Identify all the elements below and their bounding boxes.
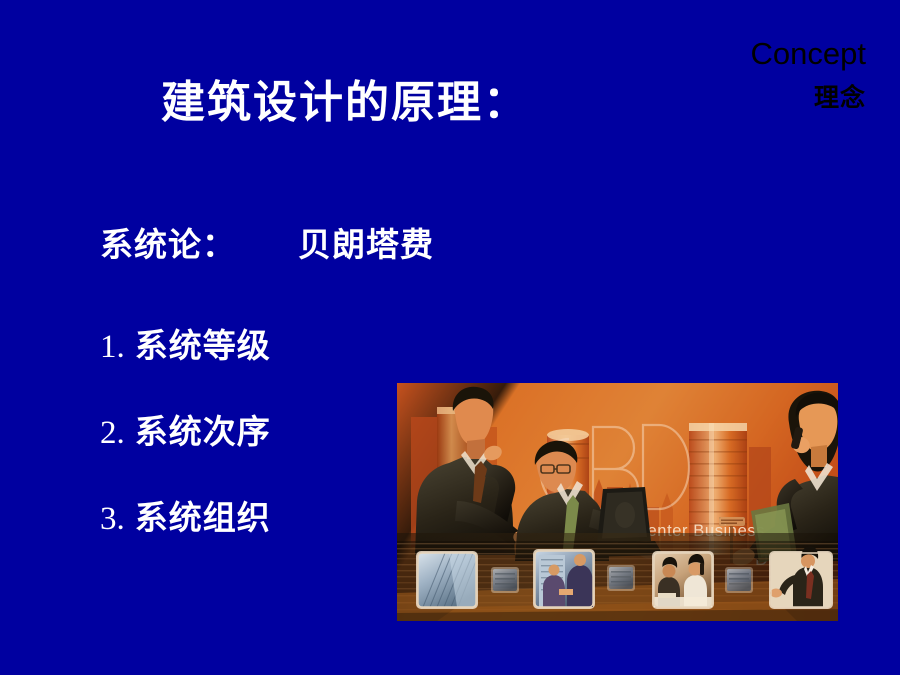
corner-label-english: Concept [751,38,866,69]
list-item-marker: 1. [100,331,125,364]
list-item-label: 系统次序 [135,415,271,448]
corner-label-chinese: 理念 [751,85,866,110]
lead-term: 系统论： [100,228,236,261]
slide-canvas: Concept 理念 建筑设计的原理： 系统论：贝朗塔费 1.系统等级 2.系统… [0,0,900,675]
list-item-label: 系统组织 [135,501,271,534]
list-item-label: 系统等级 [135,329,271,362]
cbd-business-collage-image: Center Business Distract [397,383,838,621]
list-item-marker: 3. [100,503,125,536]
list-item-marker: 2. [100,417,125,450]
corner-label: Concept 理念 [751,38,866,110]
list-item: 1.系统等级 [100,329,570,364]
page-title: 建筑设计的原理： [0,66,690,130]
lead-row: 系统论：贝朗塔费 [100,228,570,261]
collage-graphic: Center Business Distract [397,383,838,621]
lead-name: 贝朗塔费 [298,228,434,261]
